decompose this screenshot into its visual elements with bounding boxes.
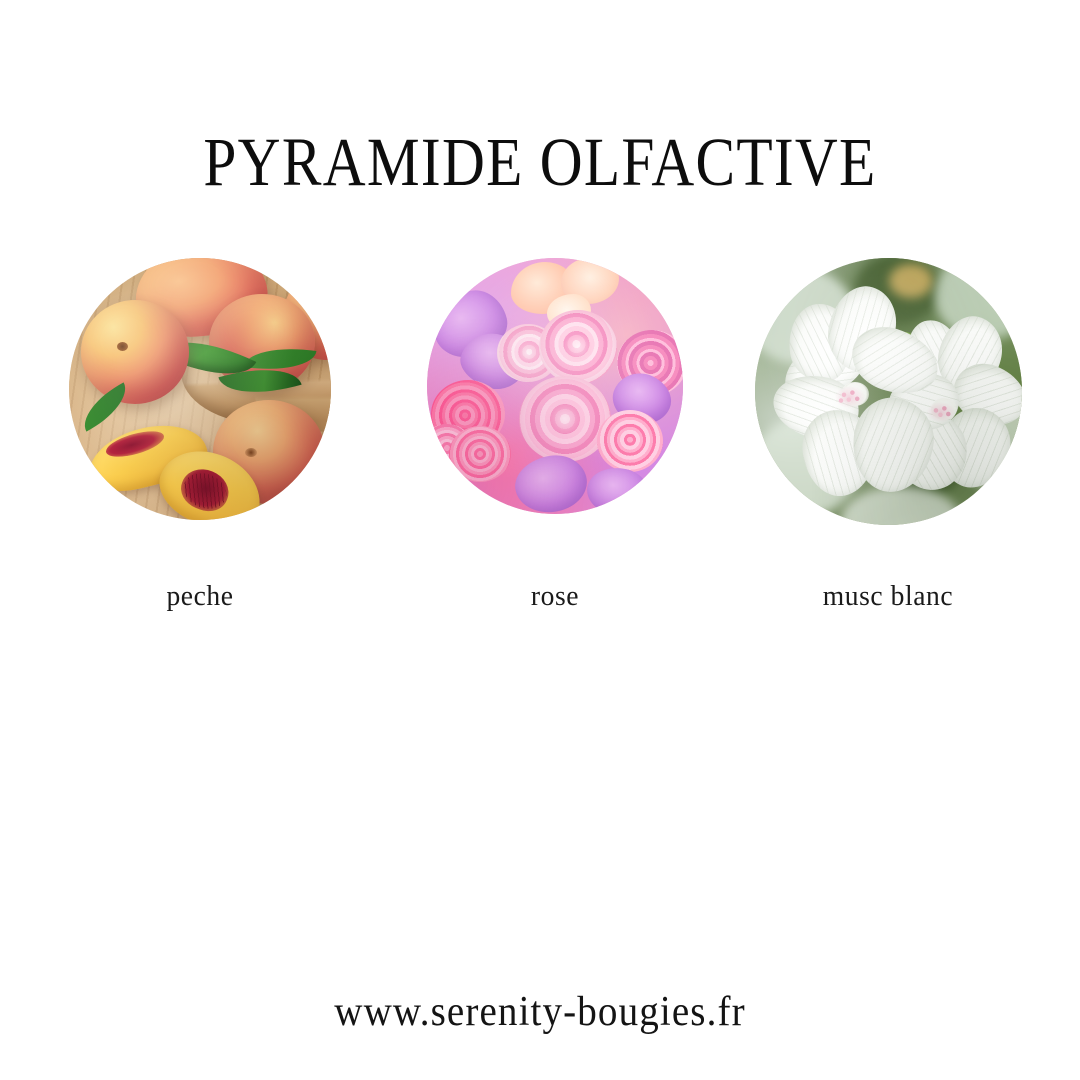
fragrance-note-label: rose [427,580,684,613]
fragrance-note-rose: rose [420,258,690,514]
page-title: PYRAMIDE OLFACTIVE [76,128,1005,197]
fragrance-note-peche: peche [65,258,335,520]
white-mallow-flowers-photo [755,258,1022,525]
pink-roses-bouquet-photo [427,258,683,514]
fragrance-note-musc-blanc: musc blanc [753,258,1023,525]
peaches-on-wooden-board-photo [69,258,331,520]
fragrance-note-label: musc blanc [760,580,1017,613]
fragrance-note-label: peche [72,580,329,613]
website-url: www.serenity-bougies.fr [38,988,1042,1036]
olfactory-pyramid-card: PYRAMIDE OLFACTIVE [0,0,1080,1080]
fragrance-notes-row: peche [0,258,1080,638]
